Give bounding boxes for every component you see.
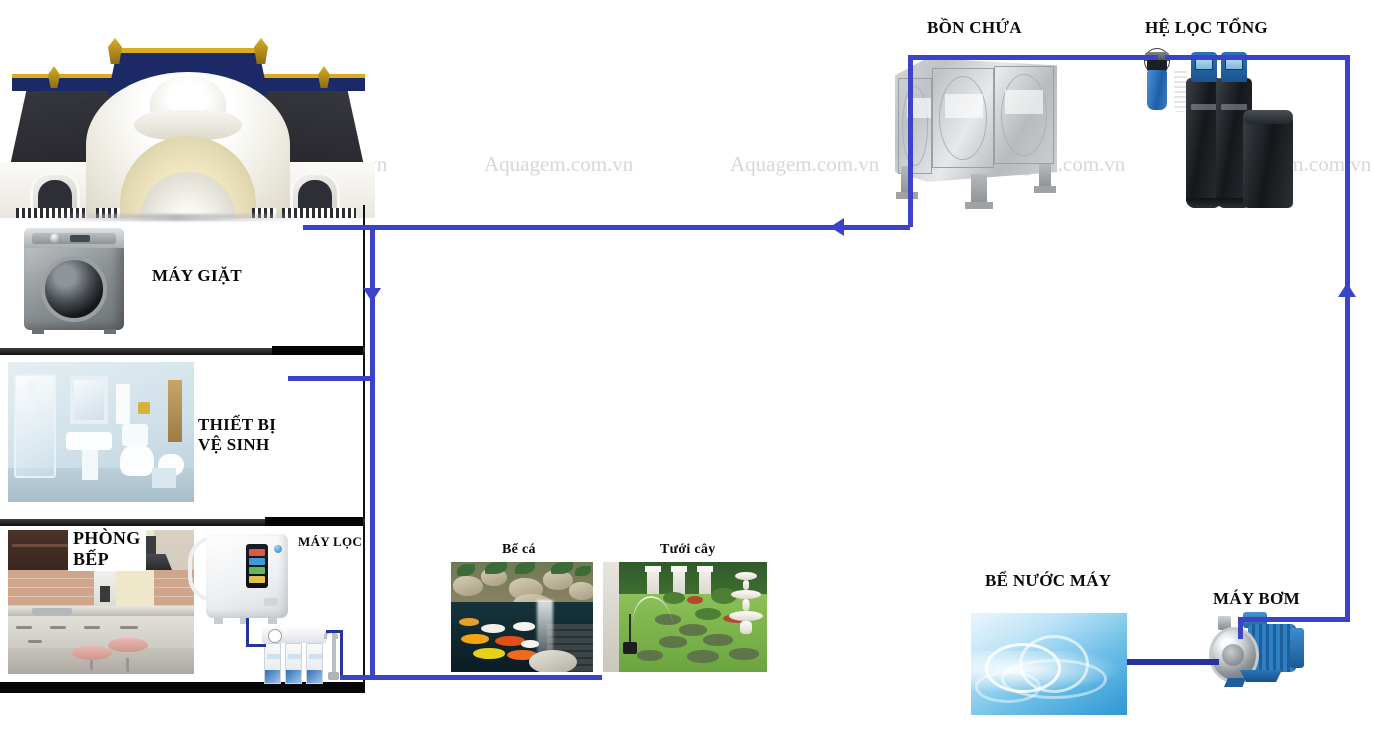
house-right-wall (363, 205, 365, 693)
label-washing-machine: MÁY GIẶT (152, 266, 242, 286)
house-villa-image (0, 32, 375, 218)
pipe-right-riser (1345, 55, 1350, 620)
label-sanitary-equipment: THIẾT BỊ VỆ SINH (198, 415, 276, 455)
label-tap-water-reservoir: BỂ NƯỚC MÁY (985, 571, 1111, 591)
arrow-tank-to-house (830, 218, 844, 236)
pipe-purifier-to-ro-h (246, 644, 266, 647)
watermark: Aquagem.com.vn (730, 152, 879, 177)
label-storage-tank: BỒN CHỨA (927, 18, 1022, 38)
pipe-bottom-header (340, 675, 602, 680)
brine-tank (1243, 114, 1293, 208)
pipe-tank-down (908, 55, 913, 227)
arrow-up-to-filter (1338, 283, 1356, 297)
tap-water-reservoir-image (971, 613, 1127, 715)
pipe-pump-outlet (1238, 617, 1243, 639)
label-fish-pond: Bể cá (502, 542, 536, 559)
floor-divider-1b (272, 346, 363, 355)
label-garden-watering: Tưới cây (660, 542, 716, 559)
label-main-filter: HỆ LỌC TỔNG (1145, 18, 1268, 38)
house-shadow (46, 214, 306, 221)
label-pump: MÁY BƠM (1213, 589, 1300, 609)
arrow-down-to-house (363, 288, 381, 302)
pipe-ro-outlet-v (340, 630, 343, 676)
fish-pond-image (451, 562, 593, 672)
pipe-branch-kitchen (340, 675, 373, 680)
floor-divider-2b (265, 517, 363, 526)
pipe-branch-washing-machine (303, 225, 373, 230)
garden-image (603, 562, 767, 672)
label-kitchen: PHÒNG BẾP (68, 527, 146, 571)
pipe-filter-to-tank-top (908, 55, 1158, 60)
bathroom-image (8, 362, 194, 502)
pipe-header-to-house (370, 225, 910, 230)
pipe-branch-bathroom (288, 376, 373, 381)
storage-tank-image (895, 58, 1057, 208)
pipe-pump-to-riser (1238, 617, 1350, 622)
label-water-purifier: MÁY LỌC (298, 534, 362, 549)
watermark: Aquagem.com.vn (484, 152, 633, 177)
pipe-filter-top-right (1165, 55, 1350, 60)
pipe-reservoir-to-pump (1127, 659, 1219, 665)
pipe-purifier-to-ro (246, 618, 249, 646)
pipe-ro-outlet-h (326, 630, 342, 633)
